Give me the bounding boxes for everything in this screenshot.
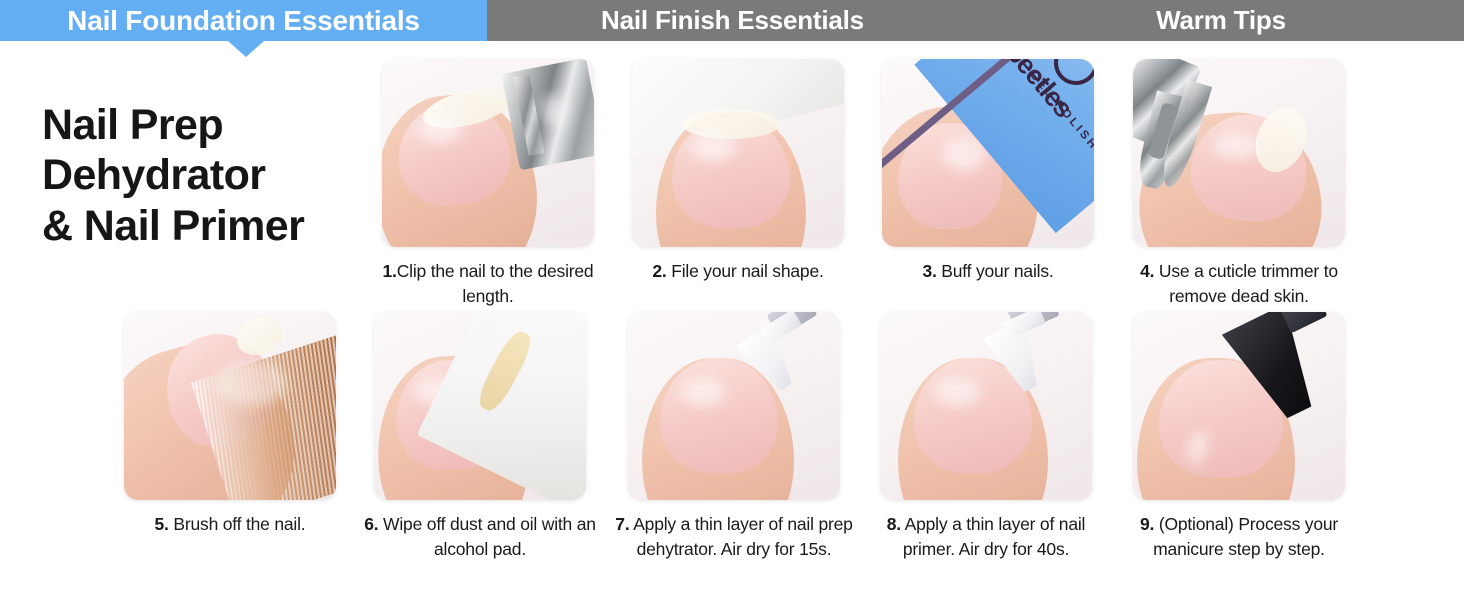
tab-bar: Nail Foundation Essentials Nail Finish E… bbox=[0, 0, 1464, 41]
step-number: 9. bbox=[1140, 514, 1154, 534]
step-caption: 6. Wipe off dust and oil with an alcohol… bbox=[355, 512, 605, 562]
tab-nail-finish-essentials[interactable]: Nail Finish Essentials bbox=[487, 0, 978, 41]
step-caption: 2. File your nail shape. bbox=[613, 259, 863, 284]
step-image-finger-with-blue-buffer: beetles GEL POLISH bbox=[882, 59, 1094, 247]
step-item: 4. Use a cuticle trimmer to remove dead … bbox=[1133, 59, 1364, 309]
step-number: 1. bbox=[383, 261, 397, 281]
step-number: 8. bbox=[887, 514, 901, 534]
step-number: 3. bbox=[922, 261, 936, 281]
step-image-finger-with-dehydrator-brush bbox=[628, 312, 840, 500]
page-title-line-2: Dehydrator bbox=[42, 150, 372, 200]
tab-warm-tips[interactable]: Warm Tips bbox=[978, 0, 1464, 41]
step-image-finger-with-nail-file bbox=[632, 59, 844, 247]
step-number: 2. bbox=[652, 261, 666, 281]
page-title: Nail Prep Dehydrator & Nail Primer bbox=[42, 100, 372, 251]
step-text: Apply a thin layer of nail primer. Air d… bbox=[901, 514, 1085, 559]
step-number: 6. bbox=[364, 514, 378, 534]
step-item: 6. Wipe off dust and oil with an alcohol… bbox=[374, 312, 605, 562]
step-caption: 4. Use a cuticle trimmer to remove dead … bbox=[1114, 259, 1364, 309]
tab-label: Nail Foundation Essentials bbox=[67, 5, 420, 37]
step-item: 5. Brush off the nail. bbox=[124, 312, 355, 537]
step-text: Buff your nails. bbox=[937, 261, 1054, 281]
step-caption: 7. Apply a thin layer of nail prep dehyt… bbox=[609, 512, 859, 562]
active-tab-pointer-icon bbox=[228, 41, 264, 57]
step-text: Wipe off dust and oil with an alcohol pa… bbox=[378, 514, 595, 559]
step-caption: 5. Brush off the nail. bbox=[105, 512, 355, 537]
tab-label: Warm Tips bbox=[1156, 5, 1286, 36]
step-caption: 1.Clip the nail to the desired length. bbox=[363, 259, 613, 309]
infographic-page: Nail Foundation Essentials Nail Finish E… bbox=[0, 0, 1464, 600]
step-image-finger-with-nail-clipper bbox=[382, 59, 594, 247]
step-image-finger-with-alcohol-pad bbox=[374, 312, 586, 500]
step-caption: 3. Buff your nails. bbox=[863, 259, 1113, 284]
step-number: 4. bbox=[1140, 261, 1154, 281]
step-item: beetles GEL POLISH 3. Buff your nails. bbox=[882, 59, 1113, 284]
tab-nail-foundation-essentials[interactable]: Nail Foundation Essentials bbox=[0, 0, 487, 41]
step-item: 1.Clip the nail to the desired length. bbox=[382, 59, 613, 309]
step-number: 5. bbox=[155, 514, 169, 534]
page-title-line-1: Nail Prep bbox=[42, 100, 372, 150]
step-text: Apply a thin layer of nail prep dehytrat… bbox=[630, 514, 853, 559]
step-caption: 8. Apply a thin layer of nail primer. Ai… bbox=[861, 512, 1111, 562]
step-text: (Optional) Process your manicure step by… bbox=[1153, 514, 1338, 559]
tab-label: Nail Finish Essentials bbox=[601, 5, 864, 36]
step-image-finger-with-black-polish-brush bbox=[1133, 312, 1345, 500]
step-item: 2. File your nail shape. bbox=[632, 59, 863, 284]
step-image-finger-with-dust-brush bbox=[124, 312, 336, 500]
step-item: 7. Apply a thin layer of nail prep dehyt… bbox=[628, 312, 859, 562]
step-text: Use a cuticle trimmer to remove dead ski… bbox=[1154, 261, 1338, 306]
step-image-finger-with-primer-brush bbox=[880, 312, 1092, 500]
step-number: 7. bbox=[615, 514, 629, 534]
step-caption: 9. (Optional) Process your manicure step… bbox=[1114, 512, 1364, 562]
step-item: 8. Apply a thin layer of nail primer. Ai… bbox=[880, 312, 1111, 562]
page-title-line-3: & Nail Primer bbox=[42, 201, 372, 251]
step-item: 9. (Optional) Process your manicure step… bbox=[1133, 312, 1364, 562]
step-text: File your nail shape. bbox=[667, 261, 824, 281]
step-image-finger-with-cuticle-trimmer bbox=[1133, 59, 1345, 247]
step-text: Brush off the nail. bbox=[169, 514, 306, 534]
step-text: Clip the nail to the desired length. bbox=[397, 261, 594, 306]
